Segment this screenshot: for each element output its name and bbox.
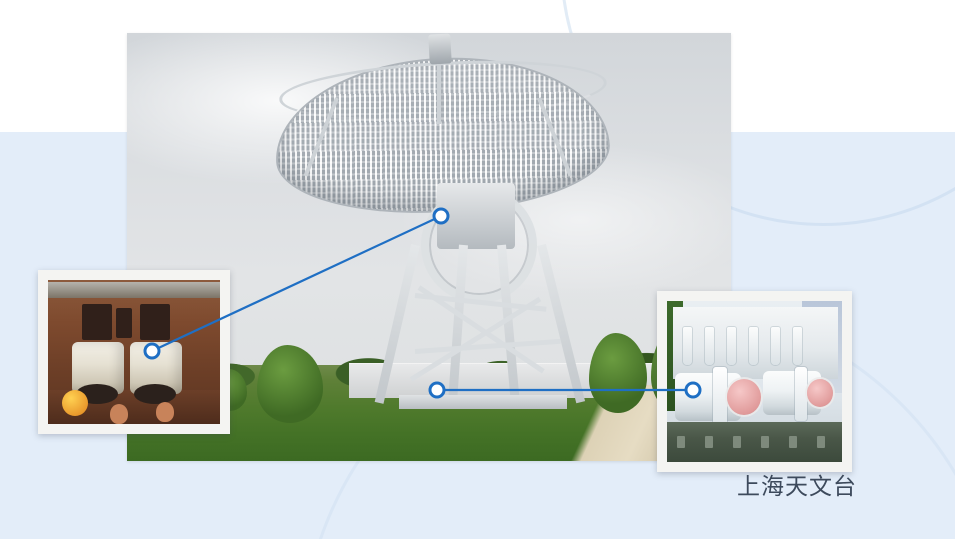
inset-right-canvas bbox=[667, 301, 842, 462]
feed-leg-center bbox=[437, 64, 441, 124]
fin-2 bbox=[705, 327, 714, 365]
overhead-rail bbox=[48, 282, 220, 298]
slide-canvas: 上海天文台 bbox=[0, 0, 955, 539]
hard-hat bbox=[62, 390, 88, 416]
tower-brace-2 bbox=[415, 339, 561, 354]
rail-bolt-2 bbox=[705, 436, 713, 448]
dark-recess-right bbox=[140, 304, 170, 340]
fin-6 bbox=[793, 327, 802, 365]
end-cap-rear bbox=[807, 379, 833, 407]
rail-bolt-4 bbox=[761, 436, 769, 448]
fin-4 bbox=[749, 327, 758, 365]
tower-base bbox=[399, 395, 567, 409]
background-white-notch bbox=[731, 0, 955, 132]
bearing-assembly-rusty-photo bbox=[38, 270, 230, 434]
worker-head-left bbox=[110, 404, 128, 424]
photo-caption: 上海天文台 bbox=[737, 467, 857, 501]
tower-brace-4 bbox=[410, 297, 542, 382]
collar-front bbox=[713, 367, 727, 427]
fin-3 bbox=[727, 327, 736, 365]
end-cap-front bbox=[727, 379, 761, 415]
inset-left-canvas bbox=[48, 280, 220, 424]
feed-horn bbox=[428, 33, 452, 64]
tower-leg-2 bbox=[448, 245, 468, 407]
rail-bolt-6 bbox=[817, 436, 825, 448]
dark-recess-left bbox=[82, 304, 112, 340]
collar-rear bbox=[795, 367, 807, 421]
mount-housing bbox=[437, 183, 515, 249]
worker-head-right bbox=[156, 402, 174, 422]
bearing-assembly-refurbished-photo bbox=[657, 291, 852, 472]
dark-recess-mid bbox=[116, 308, 132, 338]
mounting-rail bbox=[667, 422, 842, 462]
rail-bolt-3 bbox=[733, 436, 741, 448]
support-tower bbox=[405, 245, 555, 405]
rail-bolt-1 bbox=[677, 436, 685, 448]
fin-5 bbox=[771, 327, 780, 365]
rail-bolt-5 bbox=[789, 436, 797, 448]
fin-1 bbox=[683, 327, 692, 365]
bearing-face-right bbox=[134, 384, 176, 404]
